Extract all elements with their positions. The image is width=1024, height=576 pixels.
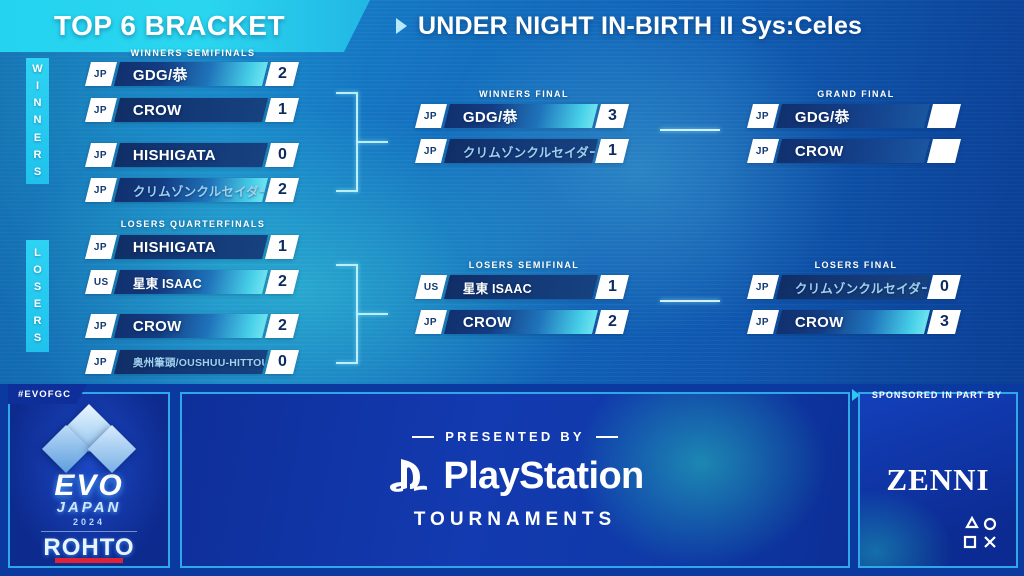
match-row[interactable]: JP GDG/恭 [750,104,958,128]
dash-right [596,436,618,438]
hashtag-badge: #EVOFGC [8,384,87,404]
player-name-bar: GDG/恭 [114,62,268,86]
country-code: JP [94,321,107,332]
playstation-logo: PlayStation [386,455,643,498]
country-code: JP [756,146,769,157]
player-name-bar: CROW [444,310,598,334]
player-name-bar: GDG/恭 [776,104,930,128]
country-code: JP [756,111,769,122]
side-tab-winners-l2: N [34,95,42,112]
bracket-connector-losers-final [660,300,720,302]
country-flag-badge: JP [415,104,447,128]
score-box: 0 [265,143,299,167]
presented-by-row: PRESENTED BY [412,429,618,444]
country-code: JP [424,146,437,157]
playstation-ps-icon [386,457,430,497]
score-box: 1 [595,275,629,299]
player-name-bar: クリムゾンクルセイダー [444,139,598,163]
match-row[interactable]: JP クリムゾンクルセイダー 1 [418,139,626,163]
playstation-wordmark: PlayStation [443,455,643,498]
side-tab-winners: W I N N E R S [26,58,49,184]
score-box: 2 [265,270,299,294]
player-name: CROW [117,318,182,335]
playstation-shapes-icon [956,516,1002,556]
match-row[interactable]: JP CROW 3 [750,310,958,334]
side-tab-winners-l3: N [34,112,42,129]
score-box: 0 [927,275,961,299]
match-row[interactable]: JP CROW 1 [88,98,296,122]
bracket-title: TOP 6 BRACKET [54,10,285,42]
country-code: JP [94,242,107,253]
country-code: US [94,277,109,288]
player-name-bar: 星東 ISAAC [114,270,268,294]
evo-logo-panel: EVO JAPAN 2024 ROHTO [8,392,170,568]
tournaments-label: TOURNAMENTS [414,509,616,531]
match-row[interactable]: JP HISHIGATA 0 [88,143,296,167]
score-value: 2 [278,181,287,199]
stage-label-losers-final: LOSERS FINAL [750,260,962,270]
side-tab-losers-l2: S [34,279,41,296]
score-value: 3 [940,313,949,331]
stage-label-grand-final: GRAND FINAL [750,89,962,99]
country-code: JP [94,357,107,368]
match-row[interactable]: US 星東 ISAAC 2 [88,270,296,294]
side-tab-winners-l1: I [36,78,39,95]
side-tab-winners-l0: W [32,61,42,78]
country-flag-badge: JP [747,310,779,334]
stage-label-losers-semifinal: LOSERS SEMIFINAL [418,260,630,270]
player-name: 奥州筆頭/OUSHUU-HITTOU [117,355,268,370]
player-name-bar: CROW [776,139,930,163]
header-bar: TOP 6 BRACKET UNDER NIGHT IN-BIRTH II Sy… [0,0,1024,52]
player-name: 星東 ISAAC [447,278,532,297]
country-flag-badge: JP [415,310,447,334]
side-tab-winners-l4: E [34,130,41,147]
sponsored-label: SPONSORED IN PART BY [872,390,1002,400]
country-code: JP [424,111,437,122]
stage-label-winners-final: WINNERS FINAL [418,89,630,99]
score-box: 1 [265,235,299,259]
bracket-connector-losers [336,264,388,364]
player-name-bar: HISHIGATA [114,143,268,167]
country-flag-badge: US [85,270,117,294]
player-name: GDG/恭 [117,64,188,85]
bracket-connector-winners [336,92,388,192]
player-name-bar: 星東 ISAAC [444,275,598,299]
evo-logo: EVO JAPAN 2024 ROHTO [10,394,168,566]
match-row[interactable]: JP CROW [750,139,958,163]
score-value: 2 [608,313,617,331]
country-flag-badge: JP [415,139,447,163]
country-flag-badge: JP [85,143,117,167]
country-flag-badge: JP [747,104,779,128]
divider [41,531,137,532]
country-flag-badge: US [415,275,447,299]
match-row[interactable]: JP HISHIGATA 1 [88,235,296,259]
match-row[interactable]: JP クリムゾンクルセイダー 0 [750,275,958,299]
playstation-content: PRESENTED BY PlayStation TOURNAMENTS [182,394,848,566]
score-value: 0 [940,278,949,296]
score-value: 0 [278,146,287,164]
evo-wordmark: EVO [54,469,123,503]
stage-label-losers-quarterfinals: LOSERS QUARTERFINALS [88,219,298,229]
country-flag-badge: JP [85,178,117,202]
country-flag-badge: JP [85,350,117,374]
score-value: 1 [278,101,287,119]
score-value: 0 [278,353,287,371]
player-name-bar: クリムゾンクルセイダー [776,275,930,299]
score-value: 1 [608,278,617,296]
score-box: 1 [265,98,299,122]
dash-left [412,436,434,438]
presented-by-label: PRESENTED BY [445,429,585,444]
game-title: UNDER NIGHT IN-BIRTH II Sys:Celes [418,12,862,41]
player-name: HISHIGATA [117,147,216,164]
game-title-area: UNDER NIGHT IN-BIRTH II Sys:Celes [378,0,1024,52]
player-name: GDG/恭 [779,106,850,127]
match-row[interactable]: JP 奥州筆頭/OUSHUU-HITTOU 0 [88,350,296,374]
country-flag-badge: JP [85,235,117,259]
notch-icon [852,389,860,401]
player-name: CROW [779,143,844,160]
score-value: 1 [278,238,287,256]
country-flag-badge: JP [85,62,117,86]
score-box: 3 [595,104,629,128]
player-name: CROW [447,314,512,331]
score-value: 2 [278,65,287,83]
broadcast-bracket-overlay: TOP 6 BRACKET UNDER NIGHT IN-BIRTH II Sy… [0,0,1024,576]
match-row[interactable]: JP CROW 2 [418,310,626,334]
player-name-bar: CROW [114,98,268,122]
evo-year: 2024 [73,517,105,527]
score-box: 0 [265,350,299,374]
country-code: JP [94,150,107,161]
sponsored-in-part-badge: SPONSORED IN PART BY [850,384,1024,406]
country-code: JP [94,69,107,80]
country-code: JP [94,185,107,196]
country-flag-badge: JP [747,139,779,163]
match-row[interactable]: JP CROW 2 [88,314,296,338]
player-name: GDG/恭 [447,106,518,127]
player-name: 星東 ISAAC [117,273,202,292]
match-row[interactable]: US 星東 ISAAC 1 [418,275,626,299]
score-box [927,104,961,128]
player-name: CROW [779,314,844,331]
country-code: JP [756,317,769,328]
side-tab-losers-l1: O [33,262,42,279]
player-name: クリムゾンクルセイダー [779,278,930,297]
score-value: 2 [278,317,287,335]
score-box: 3 [927,310,961,334]
evo-region: JAPAN [57,499,122,516]
country-code: JP [424,317,437,328]
player-name: クリムゾンクルセイダー [117,181,268,200]
match-row[interactable]: JP クリムゾンクルセイダー 2 [88,178,296,202]
side-tab-winners-l5: R [34,147,42,164]
player-name-bar: CROW [776,310,930,334]
score-box: 2 [265,62,299,86]
side-tab-losers-l4: R [34,313,42,330]
side-tab-losers-l5: S [34,330,41,347]
country-code: JP [94,105,107,116]
score-box: 2 [595,310,629,334]
score-value: 3 [608,107,617,125]
country-code: JP [756,282,769,293]
player-name: HISHIGATA [117,239,216,256]
playstation-panel: PRESENTED BY PlayStation TOURNAMENTS [180,392,850,568]
country-code: US [424,282,439,293]
hashtag-text: #EVOFGC [18,389,71,400]
bracket-title-banner: TOP 6 BRACKET [0,0,370,52]
play-arrow-icon [396,18,407,34]
score-box: 1 [595,139,629,163]
score-value: 1 [608,142,617,160]
score-box [927,139,961,163]
player-name-bar: HISHIGATA [114,235,268,259]
score-box: 2 [265,314,299,338]
match-row[interactable]: JP GDG/恭 3 [418,104,626,128]
player-name-bar: 奥州筆頭/OUSHUU-HITTOU [114,350,268,374]
side-tab-losers-l3: E [34,296,41,313]
player-name-bar: CROW [114,314,268,338]
score-box: 2 [265,178,299,202]
sponsor-footer: EVO JAPAN 2024 ROHTO #EVOFGC PRESENTED B… [0,384,1024,576]
match-row[interactable]: JP GDG/恭 2 [88,62,296,86]
player-name-bar: クリムゾンクルセイダー [114,178,268,202]
country-flag-badge: JP [85,314,117,338]
zenni-panel: ZENNI [858,392,1018,568]
country-flag-badge: JP [85,98,117,122]
evo-diamond-icon [41,411,137,467]
side-tab-losers: L O S E R S [26,240,49,352]
bracket-connector-grand-final [660,129,720,131]
side-tab-winners-l6: S [34,164,41,181]
player-name: クリムゾンクルセイダー [447,142,598,161]
player-name-bar: GDG/恭 [444,104,598,128]
score-value: 2 [278,273,287,291]
stage-label-winners-semifinals: WINNERS SEMIFINALS [88,48,298,58]
side-tab-losers-l0: L [34,245,41,262]
player-name: CROW [117,102,182,119]
zenni-wordmark: ZENNI [886,462,989,498]
rohto-red-bar [55,558,123,563]
country-flag-badge: JP [747,275,779,299]
